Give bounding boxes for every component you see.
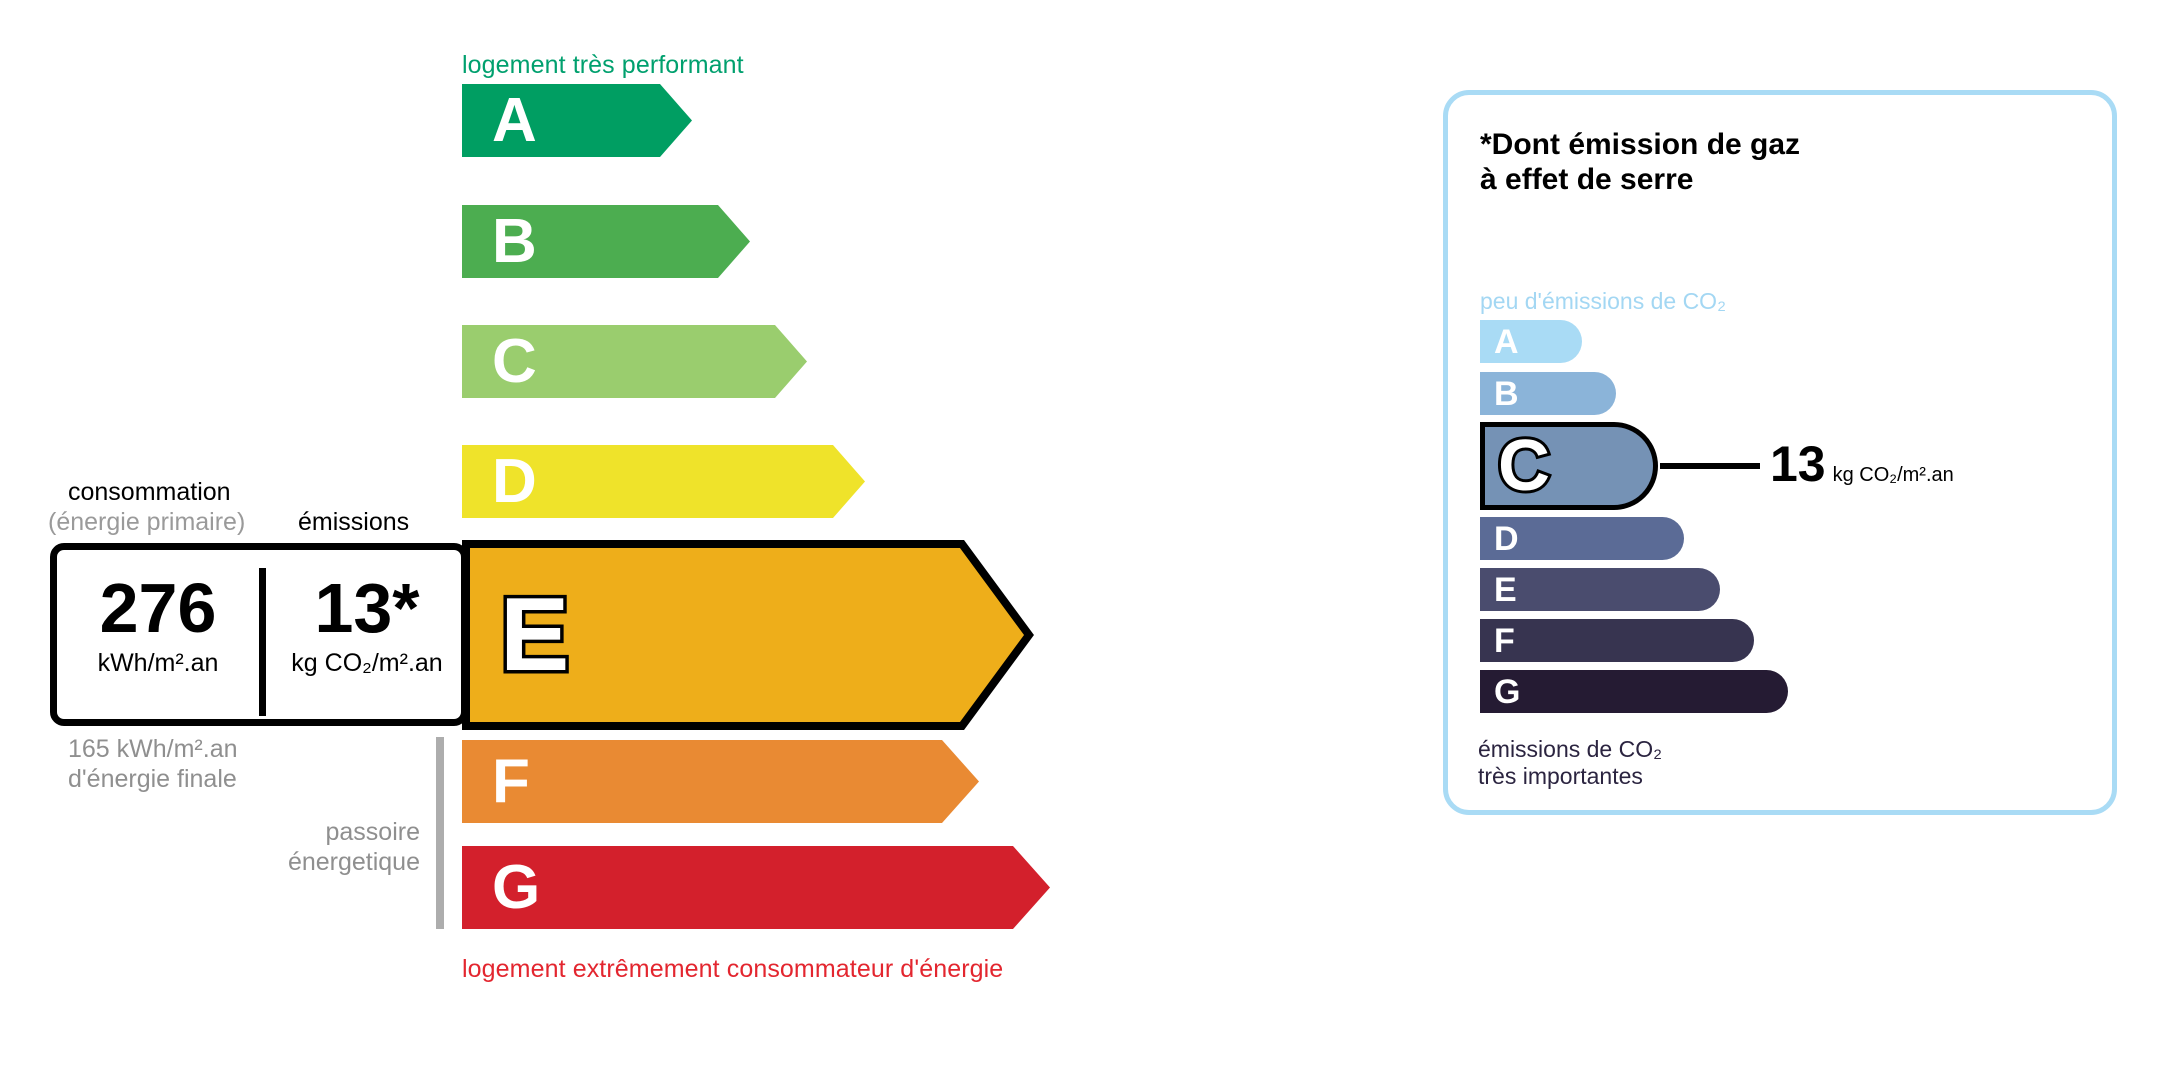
co2-value-unit: kg CO₂/m².an (1833, 464, 1954, 486)
co2-bar-f: F (1480, 619, 1754, 662)
co2-panel-title: *Dont émission de gaz à effet de serre (1480, 127, 1800, 198)
value-box-divider (259, 568, 266, 716)
energy-top-caption: logement très performant (462, 51, 744, 80)
energy-letter-a: A (492, 90, 537, 152)
passoire-note: passoire énergetique (190, 818, 420, 877)
energy-letter-c: C (492, 331, 537, 393)
energy-bar-a: A (462, 84, 692, 157)
co2-bar-g: G (1480, 670, 1788, 713)
consumption-value-cell: 276 kWh/m².an (57, 572, 259, 678)
co2-letter-c: C (1498, 430, 1550, 502)
emissions-value: 13* (266, 572, 468, 646)
emissions-value-cell: 13* kg CO₂/m².an (266, 572, 468, 678)
emissions-unit: kg CO₂/m².an (266, 648, 468, 678)
consumption-unit: kWh/m².an (57, 648, 259, 678)
energy-letter-d: D (492, 451, 537, 513)
consumption-label: consommation (68, 478, 231, 507)
co2-value-number: 13 (1770, 436, 1826, 492)
energy-letter-f: F (492, 751, 530, 813)
value-box: 276 kWh/m².an 13* kg CO₂/m².an (50, 543, 468, 726)
co2-bar-e: E (1480, 568, 1720, 611)
energy-bar-d: D (462, 445, 865, 518)
energy-bar-e-selected: E (462, 540, 1034, 730)
dpe-label: logement très performant A B (0, 0, 2169, 1079)
co2-letter-d: D (1494, 522, 1519, 556)
energy-letter-g: G (492, 857, 540, 919)
co2-bar-c-selected: C (1480, 422, 1658, 510)
energy-arrow-f-shape (462, 740, 979, 823)
final-energy-line2: d'énergie finale (68, 765, 238, 795)
co2-letter-e: E (1494, 573, 1517, 607)
co2-bottom-line1: émissions de CO₂ (1478, 736, 1662, 763)
final-energy-note: 165 kWh/m².an d'énergie finale (68, 735, 238, 794)
co2-title-line1: *Dont émission de gaz (1480, 127, 1800, 162)
energy-bar-f: F (462, 740, 979, 823)
co2-letter-g: G (1494, 675, 1520, 709)
passoire-divider-bar (436, 737, 444, 929)
co2-letter-f: F (1494, 624, 1515, 658)
energy-bar-c: C (462, 325, 807, 398)
co2-title-line2: à effet de serre (1480, 162, 1800, 197)
co2-top-caption: peu d'émissions de CO₂ (1480, 288, 1726, 315)
energy-bar-g: G (462, 846, 1050, 929)
passoire-line1: passoire (190, 818, 420, 848)
co2-leader-line (1660, 463, 1760, 469)
co2-bar-g-shape (1480, 670, 1788, 713)
co2-bar-d: D (1480, 517, 1684, 560)
emissions-label: émissions (298, 508, 409, 537)
co2-bottom-line2: très importantes (1478, 763, 1662, 790)
co2-bar-f-shape (1480, 619, 1754, 662)
consumption-sublabel: (énergie primaire) (48, 508, 245, 537)
co2-letter-b: B (1494, 377, 1519, 411)
passoire-line2: énergetique (190, 848, 420, 878)
energy-letter-b: B (492, 211, 537, 273)
energy-arrow-g-shape (462, 846, 1050, 929)
consumption-value: 276 (57, 572, 259, 646)
energy-scale: logement très performant A B (0, 0, 1400, 1079)
co2-bottom-caption: émissions de CO₂ très importantes (1478, 736, 1662, 790)
energy-bar-b: B (462, 205, 750, 278)
energy-letter-e: E (500, 583, 569, 687)
co2-letter-a: A (1494, 325, 1519, 359)
energy-bottom-caption: logement extrêmement consommateur d'éner… (462, 955, 1003, 984)
co2-bar-b: B (1480, 372, 1616, 415)
co2-bar-a: A (1480, 320, 1582, 363)
final-energy-line1: 165 kWh/m².an (68, 735, 238, 765)
co2-panel: *Dont émission de gaz à effet de serre p… (1443, 90, 2117, 815)
co2-value-readout: 13kg CO₂/m².an (1770, 439, 1954, 489)
